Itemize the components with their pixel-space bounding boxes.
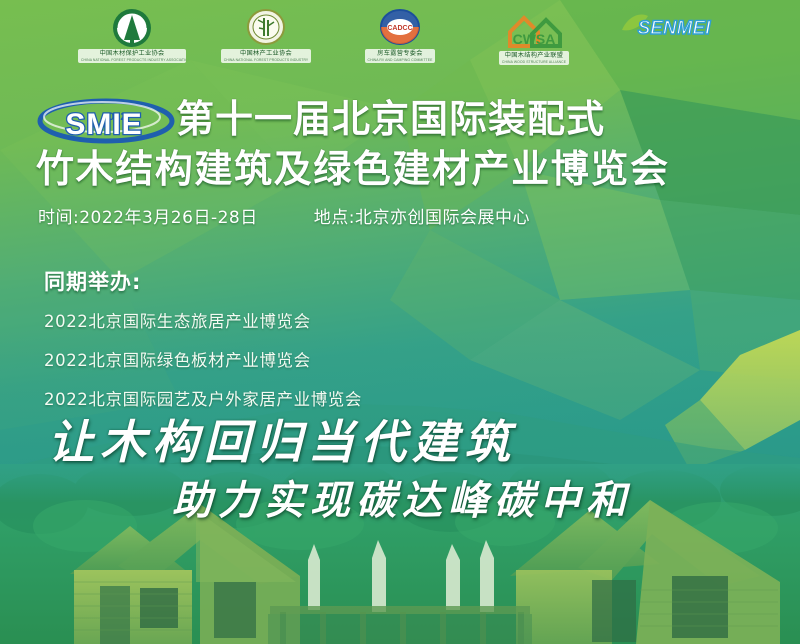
house-cwsa-icon: CWSA bbox=[502, 8, 566, 50]
title-line-2: 竹木结构建筑及绿色建材产业博览会 bbox=[36, 144, 796, 194]
poster-title: 第十一届北京国际装配式 竹木结构建筑及绿色建材产业博览会 bbox=[0, 96, 800, 142]
sponsor-logo-4: SENMEI bbox=[614, 8, 722, 42]
event-venue: 地点:北京亦创国际会展中心 bbox=[314, 203, 530, 228]
poster-slogan: 让木构回归当代建筑 助力实现碳达峰碳中和 bbox=[0, 414, 800, 526]
sponsor-logo-3: CWSA 中国木结构产业联盟 CHINA WOOD STRUCTURE ALLI… bbox=[480, 8, 588, 65]
event-date: 时间:2022年3月26日-28日 bbox=[38, 203, 258, 228]
concurrent-events-block: 同期举办: 2022北京国际生态旅居产业博览会 2022北京国际绿色板材产业博览… bbox=[44, 266, 362, 425]
sponsor-logo-3-label: 中国木结构产业联盟 CHINA WOOD STRUCTURE ALLIANCE bbox=[499, 51, 569, 65]
concurrent-event-2: 2022北京国际园艺及户外家居产业博览会 bbox=[44, 386, 362, 410]
sponsor-logo-2-label: 房车露营专委会 CHINA RV AND CAMPING COMMITTEE bbox=[365, 49, 436, 63]
sponsor-logo-0: 中国木材保护工业协会 CHINA NATIONAL FOREST PRODUCT… bbox=[78, 8, 186, 63]
pine-tree-emblem-icon bbox=[104, 8, 160, 48]
exhibition-poster: 中国木材保护工业协会 CHINA NATIONAL FOREST PRODUCT… bbox=[0, 0, 800, 644]
title-line-1: 第十一届北京国际装配式 bbox=[176, 96, 786, 142]
sponsor-logo-1: 中国林产工业协会 CHINA NATIONAL FOREST PRODUCTS … bbox=[212, 8, 320, 63]
senmei-wordmark: SENMEI bbox=[638, 18, 712, 39]
sponsor-logo-0-label: 中国木材保护工业协会 CHINA NATIONAL FOREST PRODUCT… bbox=[78, 49, 186, 63]
cadcc-badge-icon: CADCC bbox=[374, 8, 426, 48]
svg-text:CWSA: CWSA bbox=[513, 31, 556, 47]
sponsor-logo-1-label: 中国林产工业协会 CHINA NATIONAL FOREST PRODUCTS … bbox=[221, 49, 312, 63]
sponsor-logo-strip: 中国木材保护工业协会 CHINA NATIONAL FOREST PRODUCT… bbox=[0, 8, 800, 65]
senmei-leaf-icon: SENMEI bbox=[618, 8, 718, 42]
bamboo-seal-icon bbox=[240, 8, 292, 48]
svg-text:CADCC: CADCC bbox=[387, 25, 412, 32]
concurrent-event-1: 2022北京国际绿色板材产业博览会 bbox=[44, 347, 362, 371]
concurrent-heading: 同期举办: bbox=[44, 266, 362, 296]
slogan-line-2: 助力实现碳达峰碳中和 bbox=[0, 476, 800, 526]
sponsor-logo-2: CADCC 房车露营专委会 CHINA RV AND CAMPING COMMI… bbox=[346, 8, 454, 63]
concurrent-event-0: 2022北京国际生态旅居产业博览会 bbox=[44, 308, 362, 332]
slogan-line-1: 让木构回归当代建筑 bbox=[0, 414, 800, 470]
event-meta: 时间:2022年3月26日-28日 地点:北京亦创国际会展中心 bbox=[38, 203, 530, 228]
